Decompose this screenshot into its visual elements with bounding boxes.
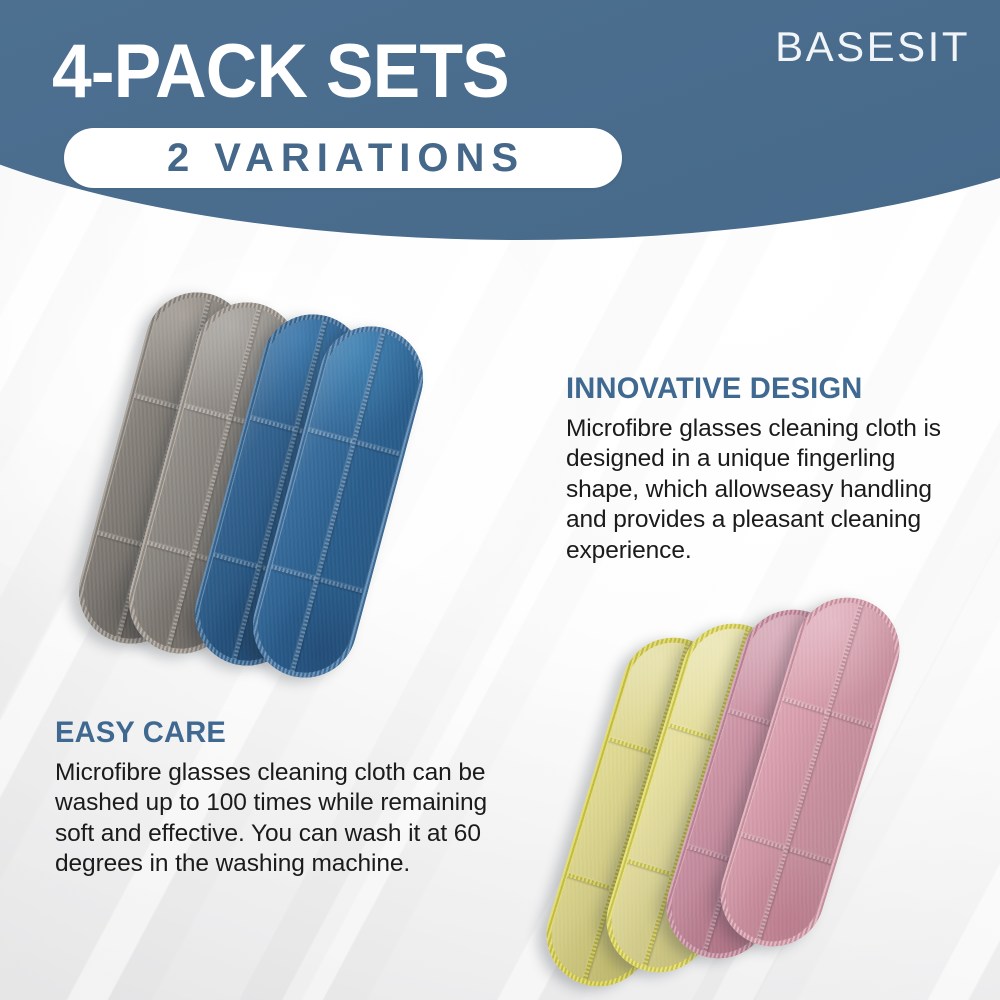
feature-heading-innovative: INNOVATIVE DESIGN — [566, 372, 954, 406]
feature-easy-care: EASY CARE Microfibre glasses cleaning cl… — [55, 716, 495, 880]
header-banner: BASESIT 4-PACK SETS 2 VARIATIONS — [0, 0, 1000, 300]
variations-badge-label: 2 VARIATIONS — [167, 136, 525, 181]
variations-badge: 2 VARIATIONS — [64, 128, 622, 188]
product-stack-yellow-pink — [590, 570, 930, 990]
product-infographic: BASESIT 4-PACK SETS 2 VARIATIONS INNOVAT… — [0, 0, 1000, 1000]
product-stack-grey-blue — [120, 258, 450, 678]
feature-body-easycare: Microfibre glasses cleaning cloth can be… — [55, 758, 495, 880]
feature-body-innovative: Microfibre glasses cleaning cloth is des… — [566, 414, 966, 566]
feature-innovative-design: INNOVATIVE DESIGN Microfibre glasses cle… — [566, 372, 966, 566]
feature-heading-easycare: EASY CARE — [55, 716, 482, 750]
page-title: 4-PACK SETS — [52, 36, 509, 109]
brand-logo: BASESIT — [775, 26, 970, 68]
